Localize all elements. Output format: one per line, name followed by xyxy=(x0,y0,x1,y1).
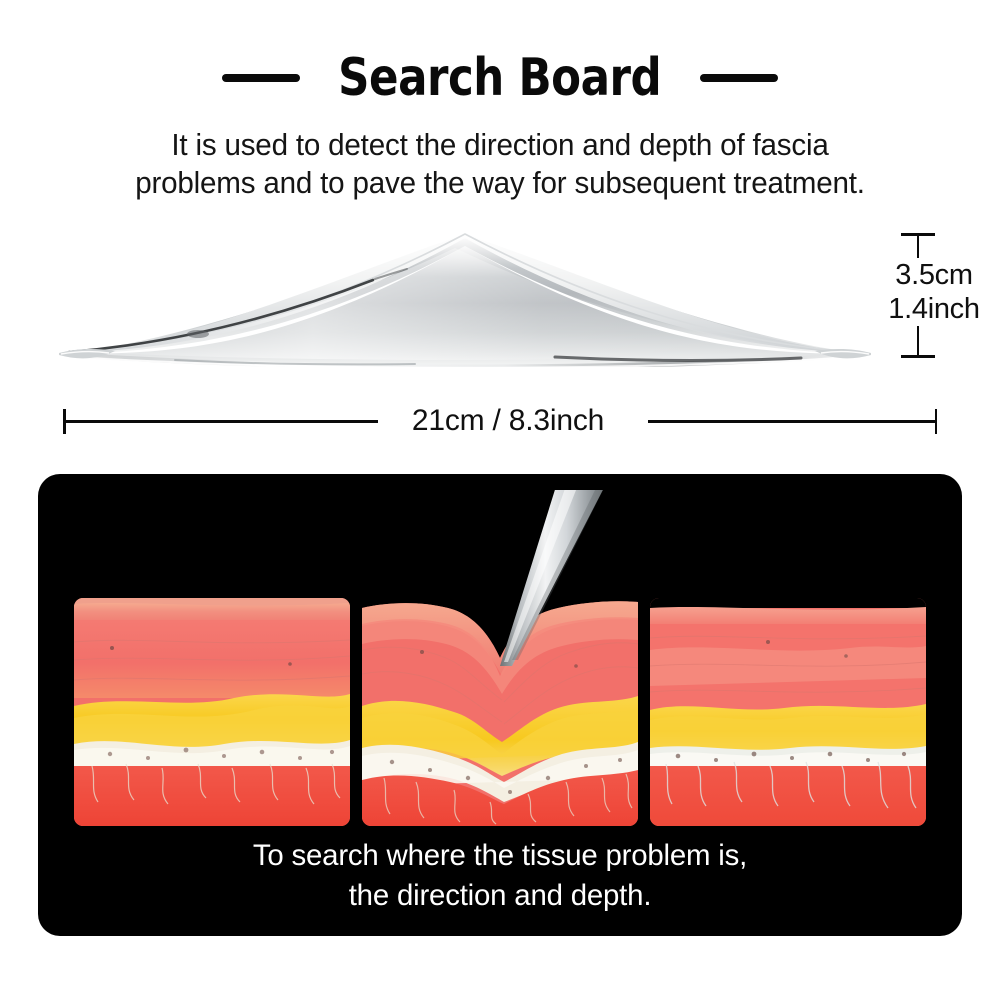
tissue-panel-center xyxy=(362,490,638,826)
demo-caption-line-2: the direction and depth. xyxy=(47,876,953,916)
subtitle-line-2: problems and to pave the way for subsequ… xyxy=(64,164,937,202)
height-inch-label: 1.4inch xyxy=(868,292,1000,326)
width-dimension-line-right xyxy=(648,420,936,423)
height-dimension: 3.5cm 1.4inch xyxy=(880,228,1000,366)
tissue-cross-section-right-illustration xyxy=(650,598,926,826)
page-title-row: Search Board xyxy=(0,52,1000,104)
search-board-tool-illustration xyxy=(55,222,875,367)
title-dash-left-icon xyxy=(222,74,300,82)
height-cm-label: 3.5cm xyxy=(868,258,1000,292)
width-dimension-label: 21cm / 8.3inch xyxy=(378,398,638,444)
width-dimension-cap-right xyxy=(935,409,938,434)
tissue-cross-section-left-illustration xyxy=(74,598,350,826)
tissue-panel-right xyxy=(650,598,926,826)
subtitle-line-1: It is used to detect the direction and d… xyxy=(64,126,937,164)
width-dimension-line-left xyxy=(64,420,416,423)
title-dash-right-icon xyxy=(700,74,778,82)
height-dimension-labels: 3.5cm 1.4inch xyxy=(868,258,1000,326)
page-subtitle: It is used to detect the direction and d… xyxy=(64,126,937,202)
height-dimension-cap-bottom xyxy=(901,355,935,358)
tissue-cross-section-center-illustration xyxy=(362,490,638,826)
tissue-panel-left xyxy=(74,598,350,826)
product-image xyxy=(55,222,875,367)
demo-panel-group xyxy=(38,474,962,834)
demo-card: To search where the tissue problem is, t… xyxy=(38,474,962,936)
demo-caption: To search where the tissue problem is, t… xyxy=(47,836,953,916)
demo-caption-line-1: To search where the tissue problem is, xyxy=(47,836,953,876)
width-dimension: 21cm / 8.3inch xyxy=(58,398,942,446)
page-title: Search Board xyxy=(338,52,661,104)
